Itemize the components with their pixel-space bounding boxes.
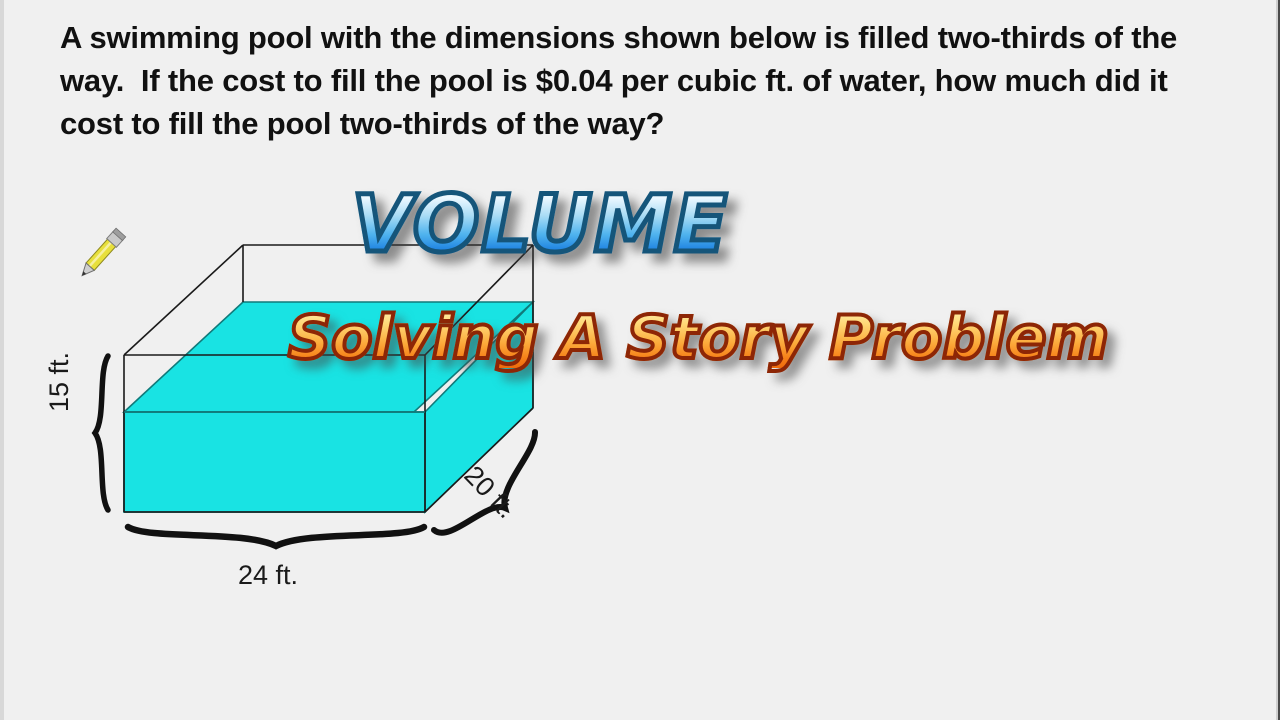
height-label: 15 ft. — [44, 352, 75, 412]
water-front-face — [124, 412, 425, 512]
pencil-cursor — [77, 228, 125, 280]
width-brace — [128, 527, 424, 546]
title-subtitle: Solving A Story Problem — [288, 308, 1109, 368]
width-label: 24 ft. — [238, 560, 298, 591]
lesson-slide: A swimming pool with the dimensions show… — [0, 0, 1280, 720]
title-volume: VOLUME — [352, 186, 729, 264]
height-brace — [95, 356, 108, 510]
